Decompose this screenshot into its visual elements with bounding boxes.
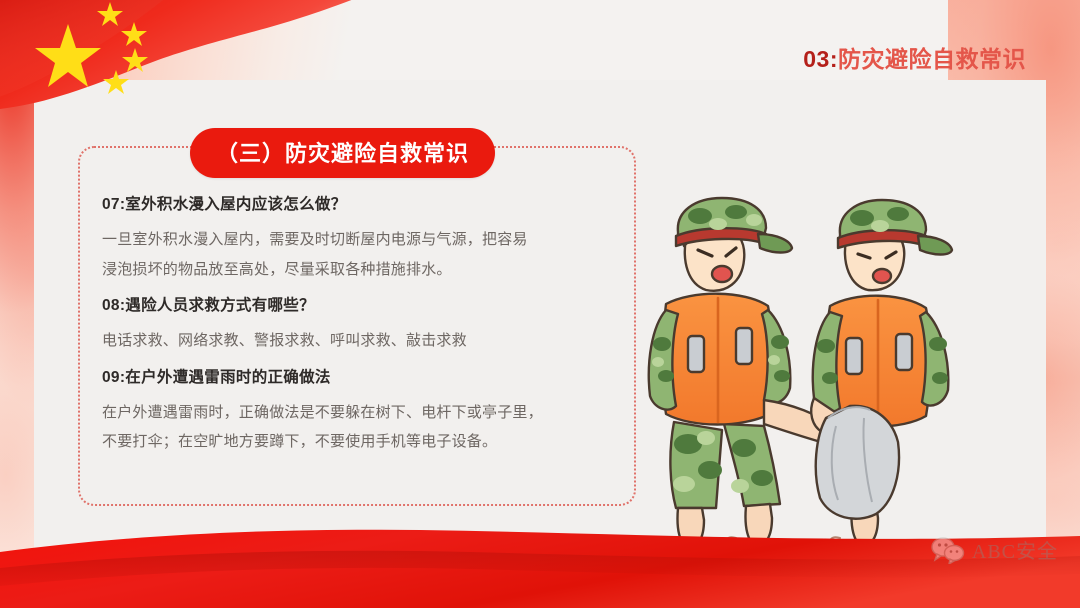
content-box: 07:室外积水漫入屋内应该怎么做？ 一旦室外积水漫入屋内，需要及时切断屋内电源与…	[78, 146, 636, 506]
qa-item-08: 08:遇险人员求救方式有哪些？ 电话求救、网络求教、警报求救、呼叫求救、敲击求救	[102, 295, 612, 356]
qa-question: 07:室外积水漫入屋内应该怎么做？	[102, 194, 612, 216]
watermark: ABC安全	[931, 535, 1058, 564]
qa-answer: 电话求救、网络求教、警报求救、呼叫求救、敲击求救	[102, 326, 612, 355]
qa-question: 09:在户外遭遇雷雨时的正确做法	[102, 367, 612, 389]
qa-answer-line: 不要打伞；在空旷地方要蹲下，不要使用手机等电子设备。	[102, 427, 612, 456]
qa-answer-line: 浸泡损坏的物品放至高处，尽量采取各种措施排水。	[102, 255, 612, 284]
qa-item-09: 09:在户外遭遇雷雨时的正确做法 在户外遭遇雷雨时，正确做法是不要躲在树下、电杆…	[102, 367, 612, 457]
two-rescue-workers-illustration	[640, 186, 980, 556]
qa-answer-line: 在户外遭遇雷雨时，正确做法是不要躲在树下、电杆下或亭子里，	[102, 398, 612, 427]
qa-question: 08:遇险人员求救方式有哪些？	[102, 295, 612, 317]
rescue-worker-left	[649, 198, 839, 548]
qa-answer-line: 电话求救、网络求教、警报求救、呼叫求救、敲击求救	[102, 326, 612, 355]
section-badge: （三）防灾避险自救常识	[190, 128, 495, 178]
qa-answer-line: 一旦室外积水漫入屋内，需要及时切断屋内电源与气源，把容易	[102, 225, 612, 254]
sandbag	[816, 406, 899, 519]
page-title: 03:防灾避险自救常识	[803, 40, 1026, 74]
page-title-number: 03:	[803, 46, 838, 72]
page-title-text: 防灾避险自救常识	[838, 46, 1026, 72]
qa-item-07: 07:室外积水漫入屋内应该怎么做？ 一旦室外积水漫入屋内，需要及时切断屋内电源与…	[102, 194, 612, 284]
wechat-icon	[931, 536, 965, 564]
slide-root: 03:防灾避险自救常识	[0, 0, 1080, 608]
qa-answer: 一旦室外积水漫入屋内，需要及时切断屋内电源与气源，把容易 浸泡损坏的物品放至高处…	[102, 225, 612, 284]
watermark-text: ABC安全	[972, 535, 1058, 564]
qa-answer: 在户外遭遇雷雨时，正确做法是不要躲在树下、电杆下或亭子里， 不要打伞；在空旷地方…	[102, 398, 612, 457]
